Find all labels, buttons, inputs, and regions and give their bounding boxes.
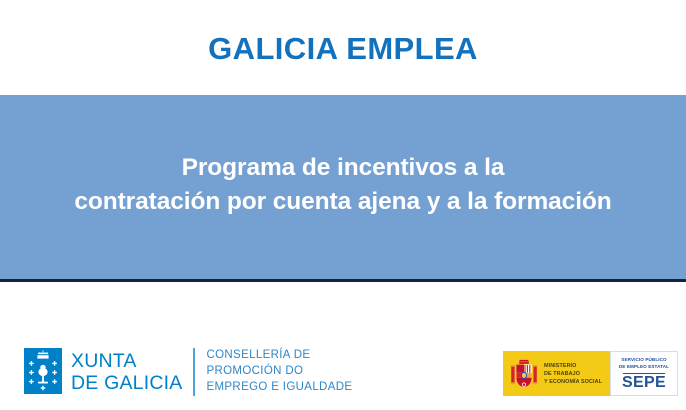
ministerio-line-2: DE TRABAJO xyxy=(544,370,602,378)
footer-logos: XUNTA DE GALICIA CONSELLERÍA DE PROMOCIÓ… xyxy=(0,285,686,410)
banner-line-1: Programa de incentivos a la xyxy=(74,151,611,185)
ministerio-line-1: MINISTERIO xyxy=(544,362,602,370)
xunta-wordmark: XUNTA DE GALICIA xyxy=(71,348,182,396)
government-logos: MINISTERIO DE TRABAJO Y ECONOMÍA SOCIAL … xyxy=(503,351,678,396)
conselleria-wordmark: CONSELLERÍA DE PROMOCIÓN DO EMPREGO E IG… xyxy=(206,348,352,396)
conselleria-line-2: PROMOCIÓN DO xyxy=(206,364,352,380)
ministerio-de-trabajo-logo: MINISTERIO DE TRABAJO Y ECONOMÍA SOCIAL xyxy=(503,351,610,396)
logo-divider xyxy=(193,348,195,396)
sepe-sub-line-1: SERVICIO PÚBLICO xyxy=(619,357,669,364)
sepe-subtitle: SERVICIO PÚBLICO DE EMPLEO ESTATAL xyxy=(619,357,669,370)
conselleria-line-3: EMPREGO E IGUALDADE xyxy=(206,380,352,396)
sepe-sub-line-2: DE EMPLEO ESTATAL xyxy=(619,364,669,371)
banner-line-2: contratación por cuenta ajena y a la for… xyxy=(74,185,611,219)
xunta-word-line-1: XUNTA xyxy=(71,350,182,372)
ministerio-line-3: Y ECONOMÍA SOCIAL xyxy=(544,378,602,386)
program-banner: Programa de incentivos a la contratación… xyxy=(0,95,686,282)
header-bar: GALICIA EMPLEA xyxy=(0,0,686,95)
ministerio-text: MINISTERIO DE TRABAJO Y ECONOMÍA SOCIAL xyxy=(544,362,602,386)
page-title: GALICIA EMPLEA xyxy=(208,33,478,64)
xunta-word-line-2: DE GALICIA xyxy=(71,372,182,394)
galicia-coat-of-arms-icon xyxy=(24,348,62,394)
banner-text: Programa de incentivos a la contratación… xyxy=(66,151,619,219)
xunta-de-galicia-logo: XUNTA DE GALICIA CONSELLERÍA DE PROMOCIÓ… xyxy=(24,348,352,396)
spain-coat-of-arms-icon xyxy=(509,357,539,391)
conselleria-line-1: CONSELLERÍA DE xyxy=(206,348,352,364)
sepe-acronym: SEPE xyxy=(622,375,666,391)
sepe-logo: SERVICIO PÚBLICO DE EMPLEO ESTATAL SEPE xyxy=(610,351,678,396)
